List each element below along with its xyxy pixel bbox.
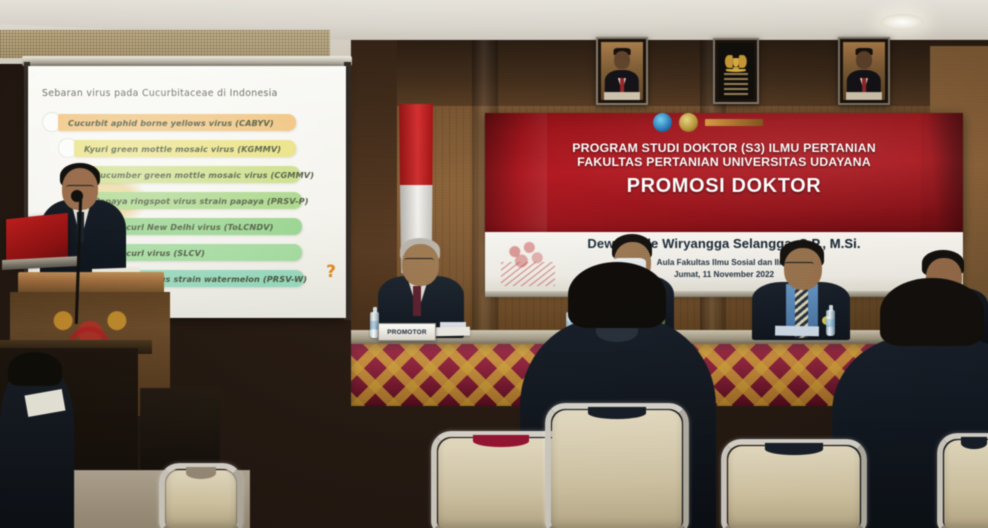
banner-fold-right <box>921 113 963 235</box>
panelist-blue-shirt-glasses-icon <box>784 262 814 270</box>
udayana-university-logo-icon <box>679 113 698 132</box>
slide-virus-row-label: Cucumber green mottle mosaic virus (CGMM… <box>84 170 314 180</box>
water-bottle-3 <box>826 310 835 336</box>
banner-title: PROMOSI DOKTOR <box>485 175 963 198</box>
candidate-name: Dewa Gede Wiryangga Selangga, S.P., M.Si… <box>485 236 963 251</box>
audience-front-left-head <box>8 352 62 386</box>
banner-fold-left <box>485 113 547 235</box>
back-wall-upper-band <box>351 40 988 106</box>
banner-program-line2: FAKULTAS PERTANIAN UNIVERSITAS UDAYANA <box>485 155 963 169</box>
audience-chair-far-right <box>944 440 988 528</box>
panelist-promotor-tie <box>413 286 421 316</box>
banner-lower-strip: Dewa Gede Wiryangga Selangga, S.P., M.Si… <box>485 232 963 294</box>
promotor-nameplate: PROMOTOR <box>378 323 436 341</box>
promotor-nameplate-label: PROMOTOR <box>387 329 427 336</box>
president-portrait-frame <box>596 37 648 105</box>
banner-logo-row <box>653 113 783 135</box>
tut-wuri-handayani-logo-icon <box>653 113 672 132</box>
garuda-pancasila-emblem-frame <box>713 38 759 104</box>
slide-title: Sebaran virus pada Cucurbitaceae di Indo… <box>42 88 332 99</box>
panelist-promotor-glasses-icon <box>404 258 434 266</box>
podium-top <box>18 272 164 294</box>
audience-chair-center <box>552 410 682 528</box>
microphone-icon <box>71 190 83 202</box>
banner-bottom-rail <box>485 291 937 297</box>
venue-text: Aula Fakultas Ilmu Sosial dan Ilmu <box>485 258 963 267</box>
slide-virus-row: Papaya ringspot virus strain papaya (PRS… <box>84 192 302 209</box>
acoustic-wall-panel <box>0 30 330 58</box>
ceiling-light <box>880 14 924 30</box>
president-portrait-image <box>601 42 643 100</box>
banner-program-line1: PROGRAM STUDI DOKTOR (S3) ILMU PERTANIAN <box>485 141 963 155</box>
audience-front-center-head <box>568 262 666 328</box>
audience-front-right-head <box>880 278 984 346</box>
slide-question-mark: ? <box>326 262 336 282</box>
photo-scene: PROGRAM STUDI DOKTOR (S3) ILMU PERTANIAN… <box>0 0 988 528</box>
audience-front-left-torso <box>0 368 74 528</box>
banner-logo-bar <box>705 119 763 126</box>
slide-virus-row: Cucurbit aphid borne yellows virus (CABY… <box>58 114 296 131</box>
audience-chair-far-left <box>166 470 236 528</box>
projection-screen-roller <box>22 56 352 66</box>
garuda-pancasila-icon <box>718 43 754 99</box>
slide-virus-row-label: Papaya ringspot virus strain papaya (PRS… <box>84 196 309 206</box>
date-text: Jumat, 11 November 2022 <box>485 270 963 279</box>
slide-virus-row-label: Cucurbit aphid borne yellows virus (CABY… <box>58 118 274 128</box>
ceremony-banner: PROGRAM STUDI DOKTOR (S3) ILMU PERTANIAN… <box>485 113 963 235</box>
slide-virus-row-label: Kyuri green mottle mosaic virus (KGMMV) <box>74 144 281 154</box>
slide-virus-row: Kyuri green mottle mosaic virus (KGMMV) <box>74 140 296 157</box>
audience-chair-right <box>728 446 860 528</box>
vice-president-portrait-frame <box>838 37 890 105</box>
slide-virus-row: Cucumber green mottle mosaic virus (CGMM… <box>84 166 300 183</box>
table-paper-2 <box>775 326 819 337</box>
vice-president-portrait-image <box>843 42 885 100</box>
